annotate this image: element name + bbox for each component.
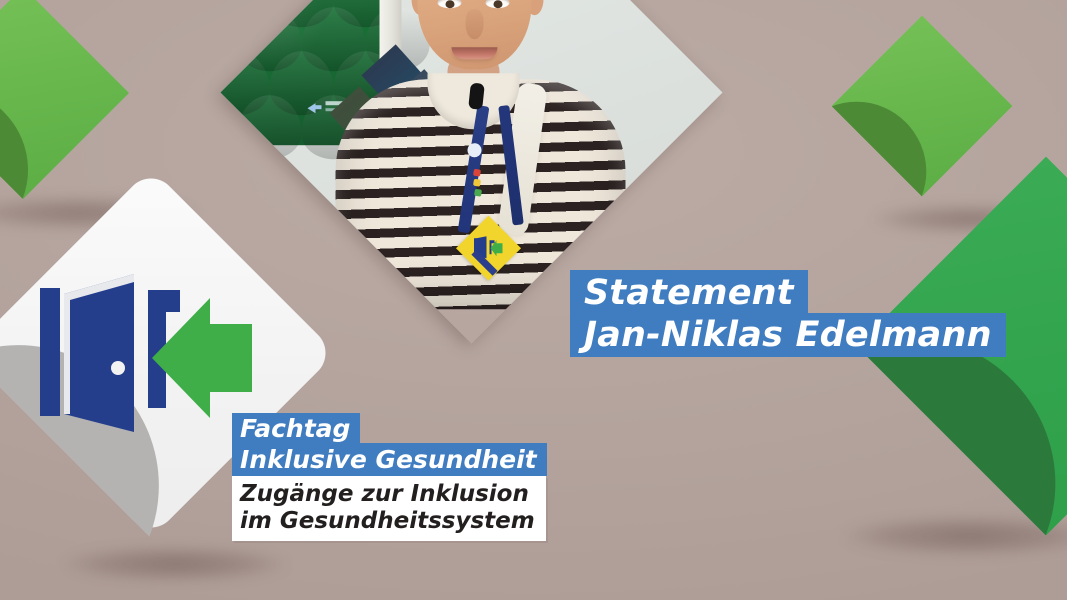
speaker-banner-line-1: Statement (570, 270, 808, 315)
event-banner-line-2: Inklusive Gesundheit (232, 443, 547, 476)
decorative-diamond-top-right (831, 15, 1012, 196)
speaker-photo: KSL KSL KSL (220, 0, 722, 309)
ksl-door-logo (40, 272, 255, 442)
photo-lanyard-dot-red (473, 168, 481, 176)
event-subtitle-line-2: im Gesundheitssystem (240, 508, 535, 535)
photo-lanyard-dot-green (474, 188, 482, 196)
event-subtitle-banner: Zugänge zur Inklusion im Gesundheitssyst… (232, 476, 546, 541)
photo-person-eye-left (438, 0, 462, 8)
event-banner-line-1: Fachtag (232, 413, 360, 444)
photo-lanyard-dot-yellow (473, 178, 481, 186)
event-banner-line-2-text: Inklusive Gesundheit (240, 445, 537, 474)
event-subtitle-line-1: Zugänge zur Inklusion (240, 481, 529, 508)
door-logo-icon (40, 272, 255, 442)
photo-person-nose (466, 9, 484, 39)
photo-person (220, 0, 722, 309)
thumbnail-canvas: KSL KSL KSL (0, 0, 1067, 600)
event-banner-line-1-text: Fachtag (240, 414, 350, 443)
decorative-diamond-top-left (0, 0, 129, 199)
photo-person-eye-right (486, 0, 510, 8)
photo-clip-microphone (468, 82, 485, 109)
shadow-left-white-diamond (60, 546, 290, 582)
photo-person-smile (452, 46, 498, 58)
speaker-banner-line-1-text: Statement (584, 273, 794, 313)
speaker-banner-line-2-text: Jan-Niklas Edelmann (584, 315, 992, 355)
speaker-banner-line-2: Jan-Niklas Edelmann (570, 313, 1006, 357)
